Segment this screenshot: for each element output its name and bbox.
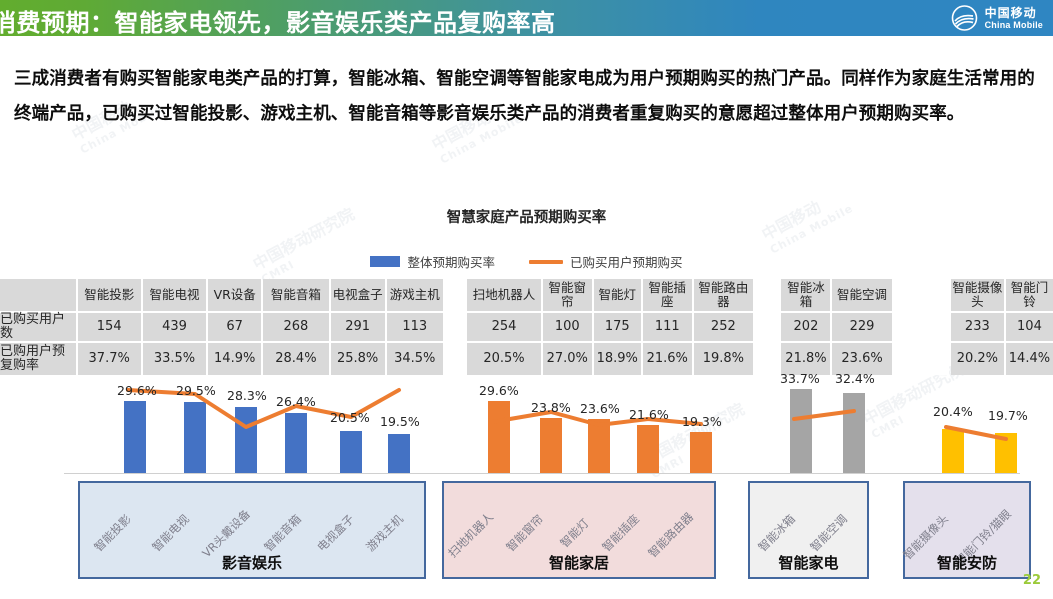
data-label: 23.8% — [531, 400, 571, 415]
table-cell: 21.6% — [643, 343, 692, 375]
category-item-label: 电视盒子 — [314, 511, 358, 555]
legend-bar-swatch-icon — [370, 256, 400, 267]
legend-item-line: 已购买用户预期购买 — [529, 252, 683, 271]
data-label: 19.7% — [988, 408, 1028, 423]
table-col-header: 电视盒子 — [331, 279, 385, 311]
chart-plot: 29.6% 29.5% 28.3% 26.4% 20.5% 19.5% 29.6… — [0, 376, 1053, 476]
table-header-row: 智能投影 智能电视 VR设备 智能音箱 电视盒子 游戏主机 扫地机器人 智能窗帘… — [0, 279, 1053, 311]
table-cell: 229 — [832, 313, 891, 341]
data-label: 20.4% — [933, 404, 973, 419]
category-item-label: 智能灯 — [557, 515, 593, 551]
table-cell: 113 — [387, 313, 443, 341]
table-col-header: 智能摄像头 — [951, 279, 1004, 311]
table-cell: 268 — [263, 313, 328, 341]
category-box-影音娱乐: 智能投影 智能电视 VR头戴设备 智能音箱 电视盒子 游戏主机 影音娱乐 — [78, 481, 426, 579]
category-item-label: 智能音箱 — [261, 511, 305, 555]
table-col-header: 智能音箱 — [263, 279, 328, 311]
table-col-header: 智能空调 — [832, 279, 891, 311]
legend-item-bar: 整体预期购买率 — [370, 252, 495, 271]
table-row-label: 已购买用户数 — [0, 313, 76, 341]
table-cell: 252 — [694, 313, 753, 341]
table-spacer-cell — [445, 313, 465, 341]
table-corner-cell — [0, 279, 76, 311]
category-item-label: 智能空调 — [807, 511, 851, 555]
table-spacer-cell — [755, 313, 780, 341]
legend-line-label: 已购买用户预期购买 — [570, 252, 683, 271]
data-label: 23.6% — [580, 401, 620, 416]
legend-bar-label: 整体预期购买率 — [407, 252, 495, 271]
table-col-header: 智能电视 — [143, 279, 206, 311]
page-header: 消费预期：智能家电领先，影音娱乐类产品复购率高 中国移动 China Mobil… — [0, 0, 1053, 36]
table-row-label: 已购用户预复购率 — [0, 343, 76, 375]
category-item-label: 智能投影 — [91, 511, 135, 555]
category-box-title: 智能家居 — [444, 552, 714, 573]
data-table: 智能投影 智能电视 VR设备 智能音箱 电视盒子 游戏主机 扫地机器人 智能窗帘… — [0, 277, 1053, 377]
data-label: 32.4% — [835, 371, 875, 386]
category-item-label: 智能窗帘 — [503, 511, 547, 555]
table-col-header: 扫地机器人 — [467, 279, 541, 311]
category-item-label: 智能冰箱 — [755, 511, 799, 555]
table-row: 已购买用户数 154 439 67 268 291 113 254 100 17… — [0, 313, 1053, 341]
table-cell: 33.5% — [143, 343, 206, 375]
table-cell: 111 — [643, 313, 692, 341]
table-cell: 175 — [594, 313, 641, 341]
table-col-header: 游戏主机 — [387, 279, 443, 311]
table-cell: 18.9% — [594, 343, 641, 375]
table-cell: 291 — [331, 313, 385, 341]
table-col-header: 智能冰箱 — [781, 279, 830, 311]
data-label: 19.3% — [682, 414, 722, 429]
table-cell: 202 — [781, 313, 830, 341]
table-cell: 439 — [143, 313, 206, 341]
category-box-title: 影音娱乐 — [80, 552, 424, 573]
table-cell: 37.7% — [78, 343, 141, 375]
table-col-header: 智能门铃 — [1006, 279, 1053, 311]
table-row: 已购用户预复购率 37.7% 33.5% 14.9% 28.4% 25.8% 3… — [0, 343, 1053, 375]
table-col-header: 智能窗帘 — [543, 279, 592, 311]
table-cell: 14.9% — [208, 343, 261, 375]
table-cell: 100 — [543, 313, 592, 341]
logo-text-cn: 中国移动 — [985, 7, 1043, 19]
table-cell: 14.4% — [1006, 343, 1053, 375]
table-cell: 34.5% — [387, 343, 443, 375]
table-cell: 28.4% — [263, 343, 328, 375]
category-item-label: 游戏主机 — [363, 511, 407, 555]
page-number: 22 — [1023, 573, 1041, 588]
page-title: 消费预期：智能家电领先，影音娱乐类产品复购率高 — [0, 3, 556, 38]
table-cell: 104 — [1006, 313, 1053, 341]
data-label: 26.4% — [276, 394, 316, 409]
data-label: 19.5% — [380, 414, 420, 429]
table-spacer-cell — [894, 313, 949, 341]
table-col-header: VR设备 — [208, 279, 261, 311]
data-label: 28.3% — [227, 388, 267, 403]
table-cell: 254 — [467, 313, 541, 341]
table-col-header: 智能路由器 — [694, 279, 753, 311]
repurchase-line-series — [0, 376, 1053, 476]
data-label: 21.6% — [629, 407, 669, 422]
table-spacer-cell — [894, 279, 949, 311]
table-spacer-cell — [445, 279, 465, 311]
china-mobile-logo-icon — [951, 5, 978, 31]
table-spacer-cell — [755, 279, 780, 311]
table-spacer-cell — [445, 343, 465, 375]
chart-title: 智慧家庭产品预期购买率 — [0, 206, 1053, 227]
table-spacer-cell — [755, 343, 780, 375]
table-cell: 20.5% — [467, 343, 541, 375]
category-box-智能家电: 智能冰箱 智能空调 智能家电 — [748, 481, 869, 579]
header-underline — [0, 36, 1053, 40]
table-cell: 25.8% — [331, 343, 385, 375]
legend-line-swatch-icon — [529, 260, 563, 264]
data-table-zone: 智能投影 智能电视 VR设备 智能音箱 电视盒子 游戏主机 扫地机器人 智能窗帘… — [0, 277, 1053, 373]
table-cell: 20.2% — [951, 343, 1004, 375]
table-cell: 19.8% — [694, 343, 753, 375]
table-col-header: 智能灯 — [594, 279, 641, 311]
data-label: 29.5% — [176, 383, 216, 398]
summary-paragraph: 三成消费者有购买智能家电类产品的打算，智能冰箱、智能空调等智能家电成为用户预期购… — [14, 62, 1039, 132]
data-label: 20.5% — [330, 410, 370, 425]
table-col-header: 智能插座 — [643, 279, 692, 311]
data-label: 33.7% — [780, 371, 820, 386]
table-cell: 67 — [208, 313, 261, 341]
table-cell: 154 — [78, 313, 141, 341]
table-cell: 27.0% — [543, 343, 592, 375]
table-col-header: 智能投影 — [78, 279, 141, 311]
chart-legend: 整体预期购买率 已购买用户预期购买 — [0, 252, 1053, 271]
data-label: 29.6% — [479, 383, 519, 398]
table-cell: 233 — [951, 313, 1004, 341]
brand-logo: 中国移动 China Mobile — [951, 5, 1043, 31]
category-box-智能家居: 扫地机器人 智能窗帘 智能灯 智能插座 智能路由器 智能家居 — [442, 481, 716, 579]
table-spacer-cell — [894, 343, 949, 375]
category-item-label: 智能电视 — [149, 511, 193, 555]
category-box-智能安防: 智能摄像头 智能门铃/猫眼 智能安防 — [903, 481, 1031, 579]
logo-text-en: China Mobile — [985, 21, 1043, 30]
category-box-title: 智能安防 — [905, 552, 1029, 573]
data-label: 29.6% — [117, 383, 157, 398]
category-box-title: 智能家电 — [750, 552, 867, 573]
category-item-label: 智能插座 — [599, 511, 643, 555]
